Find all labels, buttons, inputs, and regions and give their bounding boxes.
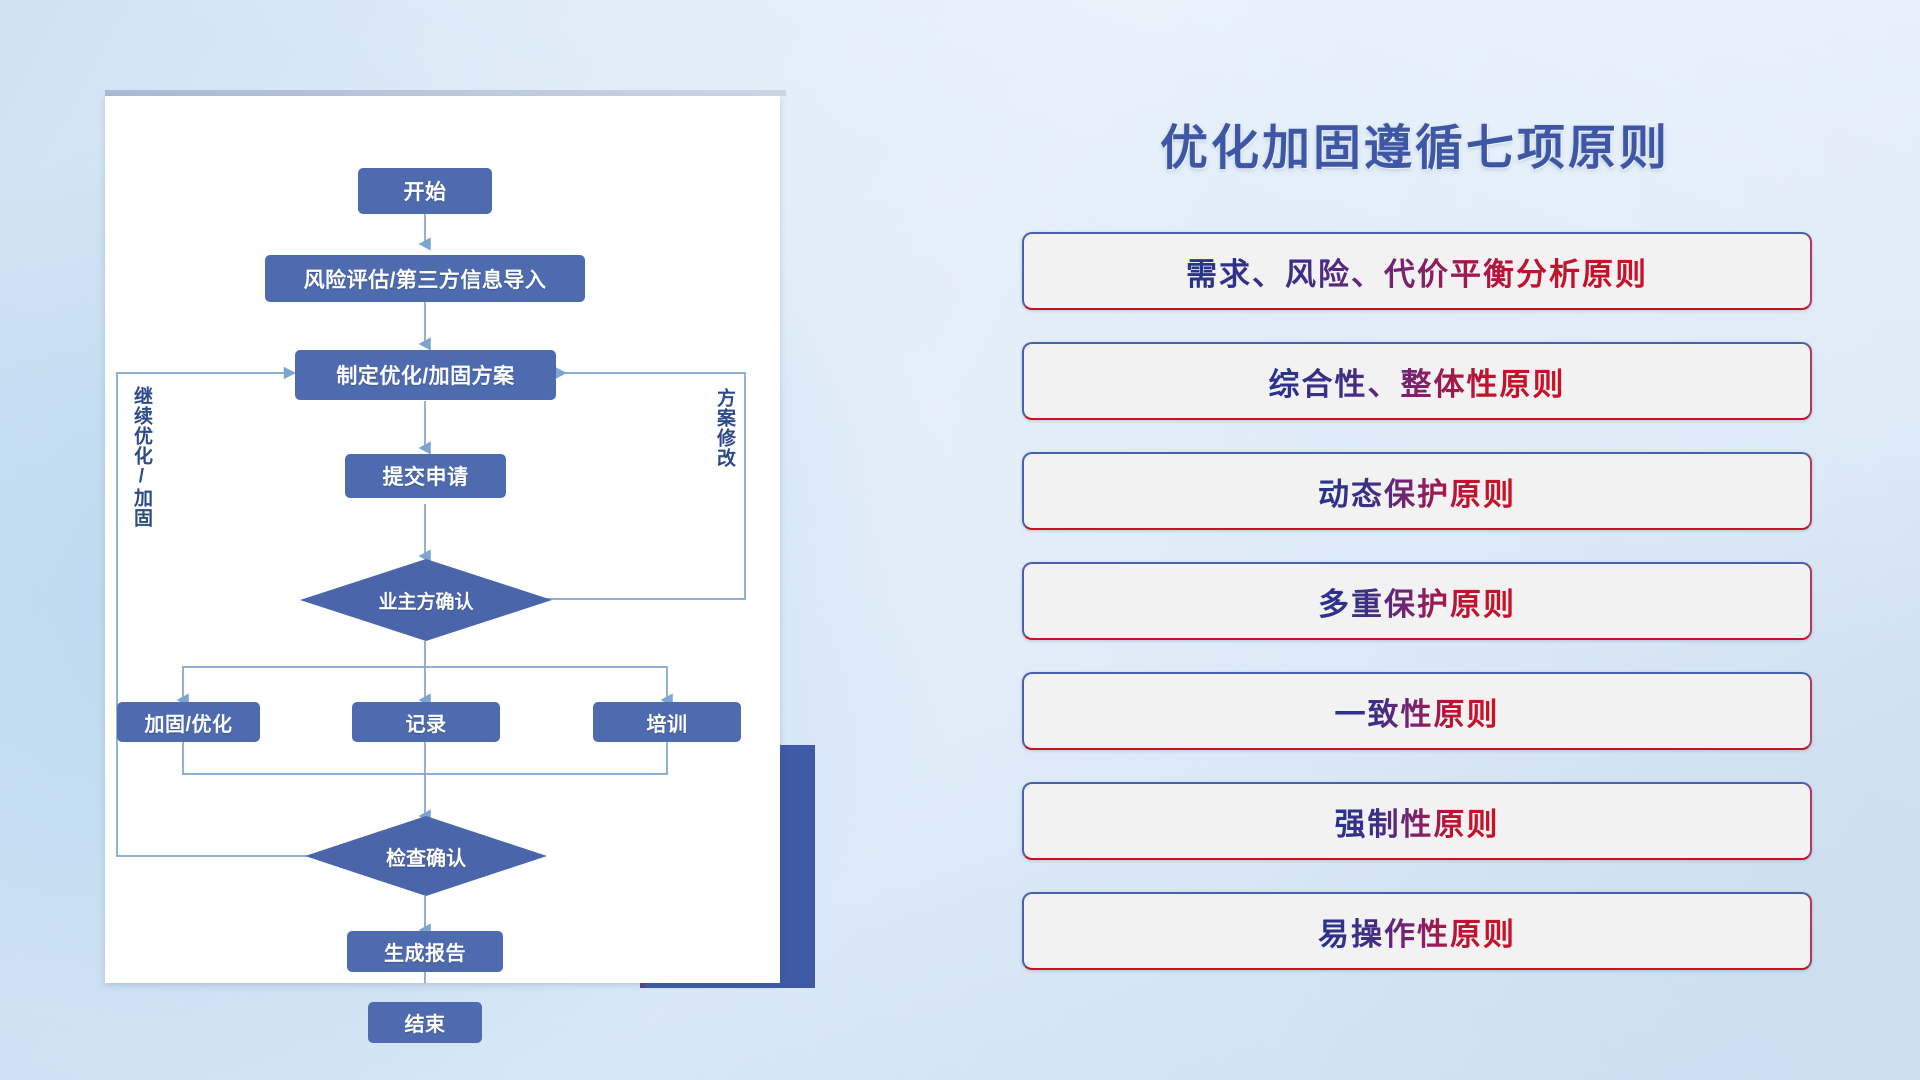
flow-node-record[interactable]: 记录 <box>352 702 500 742</box>
principle-label: 综合性、整体性原则 <box>1269 359 1566 404</box>
flow-node-generate-report[interactable]: 生成报告 <box>347 931 503 972</box>
flowchart-card: 开始 风险评估/第三方信息导入 制定优化/加固方案 提交申请 业主方确认 加固/… <box>105 96 780 983</box>
flow-node-reinforce-optimize[interactable]: 加固/优化 <box>117 702 260 742</box>
flow-node-label: 提交申请 <box>383 461 469 491</box>
principle-card-2[interactable]: 综合性、整体性原则 <box>1022 342 1812 420</box>
flow-node-submit-application[interactable]: 提交申请 <box>345 454 506 498</box>
flow-node-label: 开始 <box>404 176 447 206</box>
principle-card-3[interactable]: 动态保护原则 <box>1022 452 1812 530</box>
slide-canvas: 开始 风险评估/第三方信息导入 制定优化/加固方案 提交申请 业主方确认 加固/… <box>0 0 1920 1080</box>
flow-node-label: 业主方确认 <box>378 587 473 614</box>
flow-node-label: 检查确认 <box>386 842 466 871</box>
principle-card-5[interactable]: 一致性原则 <box>1022 672 1812 750</box>
principle-card-4[interactable]: 多重保护原则 <box>1022 562 1812 640</box>
flow-node-training[interactable]: 培训 <box>593 702 741 742</box>
panel-title: 优化加固遵循七项原则 <box>1020 108 1810 178</box>
flow-node-risk-assessment[interactable]: 风险评估/第三方信息导入 <box>265 255 585 302</box>
principle-label: 动态保护原则 <box>1318 469 1516 514</box>
flow-node-label: 记录 <box>406 708 447 737</box>
flow-node-label: 加固/优化 <box>144 708 232 737</box>
principle-card-6[interactable]: 强制性原则 <box>1022 782 1812 860</box>
principle-label: 一致性原则 <box>1335 689 1500 734</box>
edge-label-continue-optimize: 继续优化/加固 <box>131 386 151 566</box>
principle-card-1[interactable]: 需求、风险、代价平衡分析原则 <box>1022 232 1812 310</box>
principle-card-7[interactable]: 易操作性原则 <box>1022 892 1812 970</box>
flow-node-end[interactable]: 结束 <box>368 1002 482 1043</box>
flow-node-label: 培训 <box>647 708 688 737</box>
flow-node-label: 制定优化/加固方案 <box>336 360 514 390</box>
flow-node-label: 结束 <box>405 1008 446 1037</box>
flow-node-start[interactable]: 开始 <box>358 168 492 214</box>
principle-label: 需求、风险、代价平衡分析原则 <box>1186 249 1648 294</box>
principle-label: 多重保护原则 <box>1318 579 1516 624</box>
edge-label-plan-revision: 方案修改 <box>714 388 734 513</box>
principle-label: 易操作性原则 <box>1318 909 1516 954</box>
principle-label: 强制性原则 <box>1335 799 1500 844</box>
flow-node-make-plan[interactable]: 制定优化/加固方案 <box>295 350 556 400</box>
flow-node-label: 风险评估/第三方信息导入 <box>304 264 547 294</box>
flow-node-label: 生成报告 <box>384 937 466 966</box>
principles-list: 需求、风险、代价平衡分析原则 综合性、整体性原则 动态保护原则 多重保护原则 一… <box>1022 232 1812 970</box>
